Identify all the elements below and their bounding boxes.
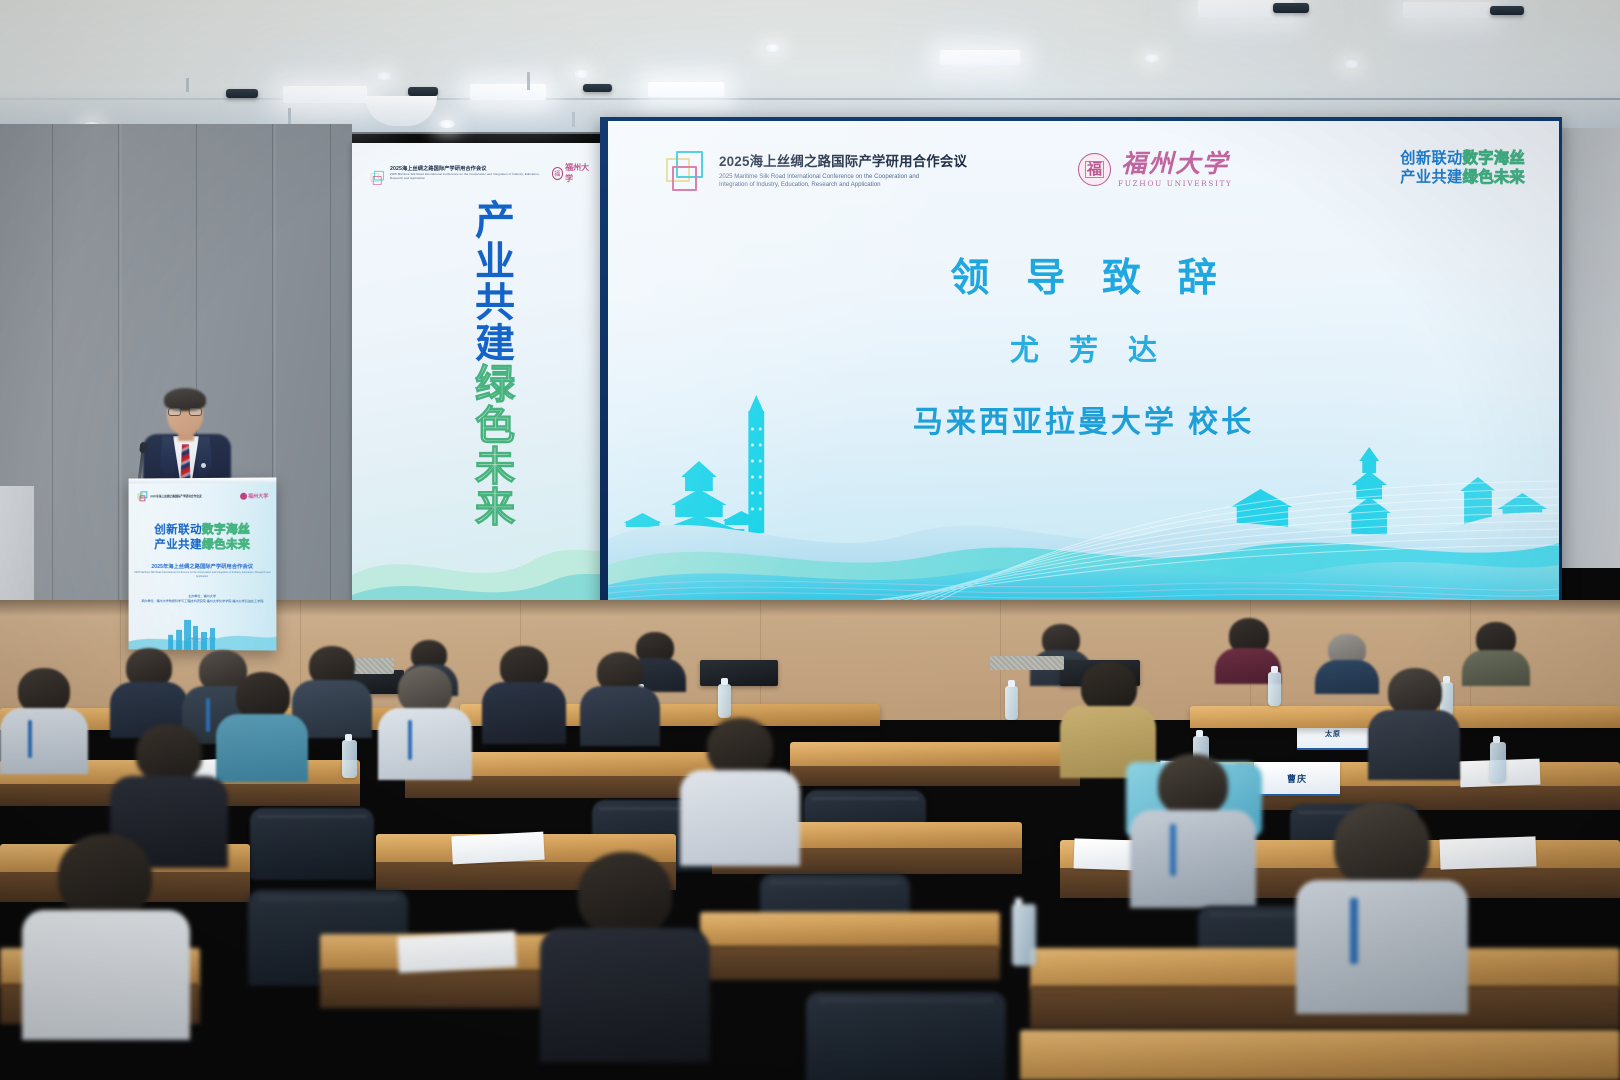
lanyard: [1170, 824, 1176, 876]
water-bottle: [1005, 686, 1018, 720]
attendee-head: [1158, 754, 1228, 816]
attendee-body: [540, 928, 710, 1062]
slogan-line2-green: 绿色未来: [1463, 169, 1525, 186]
podium-fuzhou-logo: 福州大学: [240, 493, 268, 500]
attendee-body: [0, 708, 88, 774]
podium-slogan-line2-green: 绿色未来: [202, 538, 250, 551]
water-bottle: [718, 684, 731, 718]
slide-header: 2025海上丝绸之路国际产学研用合作会议 2025 Maritime Silk …: [664, 149, 1525, 207]
placard-text: 太原: [1325, 729, 1341, 739]
attendee-head: [58, 834, 152, 918]
audience-area: 太原: [0, 612, 1620, 1080]
attendee-body: [580, 686, 660, 746]
podium-slogan-line2-blue: 产业共建: [154, 538, 202, 551]
podium-logo-group: 2025年海上丝绸之路国际产学研用合作会议: [137, 491, 201, 502]
attendee-body: [216, 714, 308, 782]
conference-hall-photo: 2025海上丝绸之路国际产学研用合作会议 2025 Maritime Silk …: [0, 0, 1620, 1080]
slogan-line1-green: 数字海丝: [1463, 150, 1525, 167]
banner-university-name: 福州大学: [565, 162, 593, 184]
attendee-head: [578, 852, 672, 936]
ceiling-panel-light: [1403, 2, 1491, 18]
attendee-head: [136, 724, 202, 782]
fuzhou-seal-char: 福: [1085, 161, 1104, 178]
ceiling-speaker: [1490, 6, 1524, 15]
placard-text: 曹庆: [1287, 772, 1307, 785]
podium-subtitle-cn: 2025年海上丝绸之路国际产学研用合作会议: [129, 562, 277, 570]
attendee: [22, 834, 190, 1034]
slide-speaker-name: 尤 芳 达: [608, 327, 1559, 369]
ceiling-rod: [288, 108, 291, 124]
chair-back: [806, 992, 1006, 1080]
banner-conference-title: 2025海上丝绸之路国际产学研用合作会议 2025 Maritime Silk …: [390, 166, 552, 181]
banner-slogan-blue: 产业共建: [469, 199, 513, 363]
banner-fuzhou-logo: 福 福州大学: [552, 162, 594, 184]
podium-organizers: 主办单位：福州大学 承办单位：福州大学物质科学与工程技术研究院 福州大学化学学院…: [129, 594, 277, 605]
water-bottle: [1490, 742, 1506, 782]
ceiling-downlight: [1143, 54, 1161, 62]
desk-row: [700, 912, 1000, 948]
attendee: [540, 852, 710, 1058]
led-screen-frame: 2025海上丝绸之路国际产学研用合作会议 2025 Maritime Silk …: [600, 117, 1562, 610]
speaker-glasses-icon: [167, 408, 203, 416]
ceiling-panel-light: [940, 50, 1020, 65]
fuzhou-university-logo: 福 福州大学 FUZHOU UNIVERSITY: [1078, 151, 1232, 188]
slide-slogan: 创新联动数字海丝 产业共建绿色未来: [1400, 149, 1525, 187]
attendee-head: [398, 666, 452, 714]
chair-back: [250, 808, 374, 880]
podium-slogan: 创新联动数字海丝 产业共建绿色未来: [129, 522, 277, 552]
ceiling-edge: [0, 98, 1620, 100]
ceiling-panel-light: [648, 82, 724, 97]
slide-header-left: 2025海上丝绸之路国际产学研用合作会议 2025 Maritime Silk …: [664, 149, 967, 195]
attendee: [110, 648, 188, 734]
banner-vertical-slogan: 产业共建绿色未来: [448, 199, 514, 527]
desk-paper: [397, 931, 517, 973]
lanyard: [28, 720, 32, 758]
desk-mic-pad: [990, 656, 1064, 670]
attendee: [580, 652, 660, 744]
attendee-body: [22, 910, 190, 1040]
lanyard: [1350, 898, 1358, 964]
ceiling-speaker: [583, 84, 612, 92]
attendee: [680, 718, 800, 862]
podium-university-name: 福州大学: [248, 493, 268, 500]
ceiling-speaker: [226, 89, 258, 98]
podium-slogan-line1-green: 数字海丝: [202, 523, 250, 536]
attendee-body: [1130, 810, 1256, 908]
water-bottle: [342, 740, 357, 778]
attendee-head: [707, 718, 773, 776]
fuzhou-seal-icon: 福: [1078, 153, 1111, 186]
ceiling-speaker: [408, 87, 438, 96]
left-standing-banner: 2025海上丝绸之路国际产学研用合作会议 2025 Maritime Silk …: [352, 143, 605, 633]
attendee: [1368, 668, 1460, 778]
slide-skyline-artwork: [608, 389, 1559, 604]
slide-conference-title-en: 2025 Maritime Silk Road International Co…: [719, 173, 937, 190]
desk-row: [1020, 1030, 1620, 1080]
ceiling-rod: [527, 72, 530, 90]
lanyard: [408, 720, 412, 760]
slide-conference-title-cn: 2025海上丝绸之路国际产学研用合作会议: [719, 154, 967, 171]
ceiling: [0, 0, 1620, 132]
attendee-body: [482, 682, 566, 744]
fuzhou-wordmark: 福州大学 FUZHOU UNIVERSITY: [1118, 151, 1232, 188]
attendee-head: [236, 672, 290, 720]
banner-logo-group: 2025海上丝绸之路国际产学研用合作会议 2025 Maritime Silk …: [370, 165, 552, 181]
desk-monitor: [700, 660, 778, 686]
attendee: [1130, 754, 1256, 904]
fuzhou-seal-icon: 福: [552, 167, 564, 180]
attendee: [1462, 622, 1530, 684]
attendee: [482, 646, 566, 742]
ceiling-downlight: [1343, 60, 1360, 68]
desk-front-panel: [790, 766, 1080, 786]
ceiling-downlight: [375, 72, 393, 80]
conference-logo-icon: [137, 491, 148, 502]
fuzhou-name-cn: 福州大学: [1121, 151, 1229, 176]
attendee-body: [1368, 710, 1460, 780]
ceiling-panel-light: [283, 86, 367, 103]
lapel-pin-icon: [201, 463, 206, 468]
attendee: [216, 672, 308, 780]
podium-header: 2025年海上丝绸之路国际产学研用合作会议 福州大学: [137, 491, 268, 503]
ceiling-rod: [186, 78, 189, 92]
attendee-body: [1296, 880, 1468, 1014]
conference-logo-icon: [664, 149, 710, 195]
attendee: [1296, 802, 1468, 1010]
fuzhou-name-en: FUZHOU UNIVERSITY: [1118, 179, 1232, 188]
ceiling-speaker: [1273, 3, 1309, 13]
attendee-head: [1081, 662, 1137, 712]
podium-subtitle-en: 2025 Maritime Silk Road International Co…: [129, 571, 277, 579]
banner-header: 2025海上丝绸之路国际产学研用合作会议 2025 Maritime Silk …: [370, 157, 593, 189]
water-bottle: [1012, 904, 1036, 966]
attendee: [0, 668, 88, 772]
ceiling-downlight: [573, 70, 590, 78]
slogan-line2-blue: 产业共建: [1400, 169, 1462, 186]
pagoda-silhouette: [748, 395, 764, 533]
podium-conference-title: 2025年海上丝绸之路国际产学研用合作会议: [150, 495, 201, 499]
ceiling-downlight: [764, 44, 781, 52]
attendee-head: [1388, 668, 1442, 716]
attendee: [378, 666, 472, 778]
fuzhou-seal-icon: [240, 493, 247, 500]
conference-logo-icon: [370, 170, 376, 176]
slogan-line1-blue: 创新联动: [1400, 150, 1462, 167]
podium-top-edge: [129, 477, 277, 483]
slide-conference-title-block: 2025海上丝绸之路国际产学研用合作会议 2025 Maritime Silk …: [719, 154, 967, 190]
attendee-body: [378, 708, 472, 780]
desk-row: [790, 742, 1080, 768]
ceiling-rod: [572, 112, 575, 127]
desk-paper: [451, 832, 544, 865]
podium-slogan-line1-blue: 创新联动: [154, 523, 202, 536]
attendee-head: [1334, 802, 1430, 888]
ceiling-downlight: [438, 120, 456, 128]
ceiling-panel-light: [470, 84, 546, 100]
water-bottle: [1268, 672, 1281, 706]
name-placard: 曹庆: [1254, 762, 1340, 796]
desk-front-panel: [700, 946, 1000, 980]
slide-section-title: 领 导 致 辞: [608, 247, 1559, 303]
attendee-body: [1462, 650, 1530, 686]
presentation-screen: 2025海上丝绸之路国际产学研用合作会议 2025 Maritime Silk …: [608, 121, 1559, 604]
